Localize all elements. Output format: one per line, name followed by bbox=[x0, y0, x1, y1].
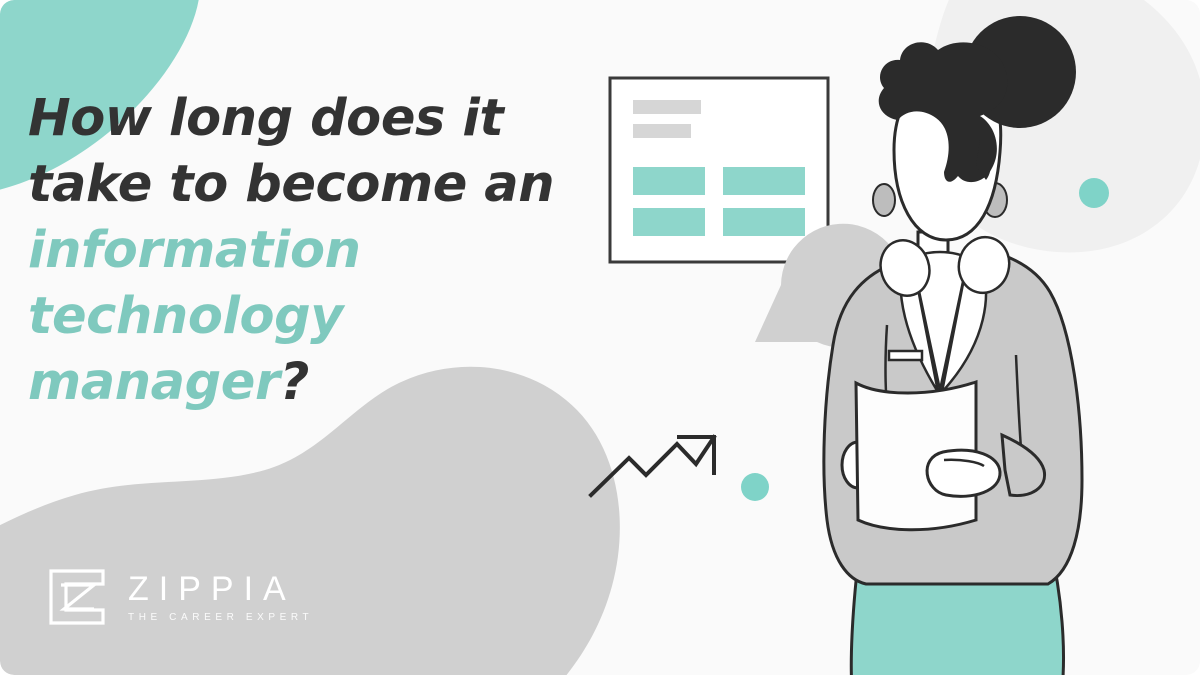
panel-data-block-2 bbox=[723, 167, 805, 195]
zippia-tagline: THE CAREER EXPERT bbox=[128, 613, 313, 623]
headline-line-5: manager? bbox=[28, 350, 558, 416]
person-earring-left bbox=[873, 184, 895, 216]
page-title: How long does it take to become an infor… bbox=[28, 86, 558, 416]
headline-keyword-manager: manager bbox=[28, 353, 280, 412]
zippia-logo[interactable]: ZIPPIA THE CAREER EXPERT bbox=[48, 568, 313, 626]
zippia-logo-text: ZIPPIA THE CAREER EXPERT bbox=[128, 572, 313, 623]
panel-placeholder-line-1 bbox=[633, 100, 701, 114]
zippia-wordmark: ZIPPIA bbox=[128, 572, 313, 606]
document-chart-panel bbox=[610, 78, 828, 262]
headline-line-2: take to become an bbox=[28, 152, 558, 218]
panel-data-block-3 bbox=[633, 208, 705, 236]
headline-line-3: information bbox=[28, 218, 558, 284]
headline-line-1: How long does it bbox=[28, 86, 558, 152]
hero-card: How long does it take to become an infor… bbox=[0, 0, 1200, 675]
teal-dot-corner bbox=[1079, 178, 1109, 208]
person-pocket-bar bbox=[889, 351, 922, 360]
headline-question-mark: ? bbox=[280, 353, 309, 412]
zippia-z-mark bbox=[48, 568, 106, 626]
panel-placeholder-line-2 bbox=[633, 124, 691, 138]
panel-data-block-4 bbox=[723, 208, 805, 236]
person-right-hand bbox=[927, 450, 1000, 496]
headline-line-4: technology bbox=[28, 284, 558, 350]
panel-data-block-1 bbox=[633, 167, 705, 195]
teal-dot-small bbox=[741, 473, 769, 501]
